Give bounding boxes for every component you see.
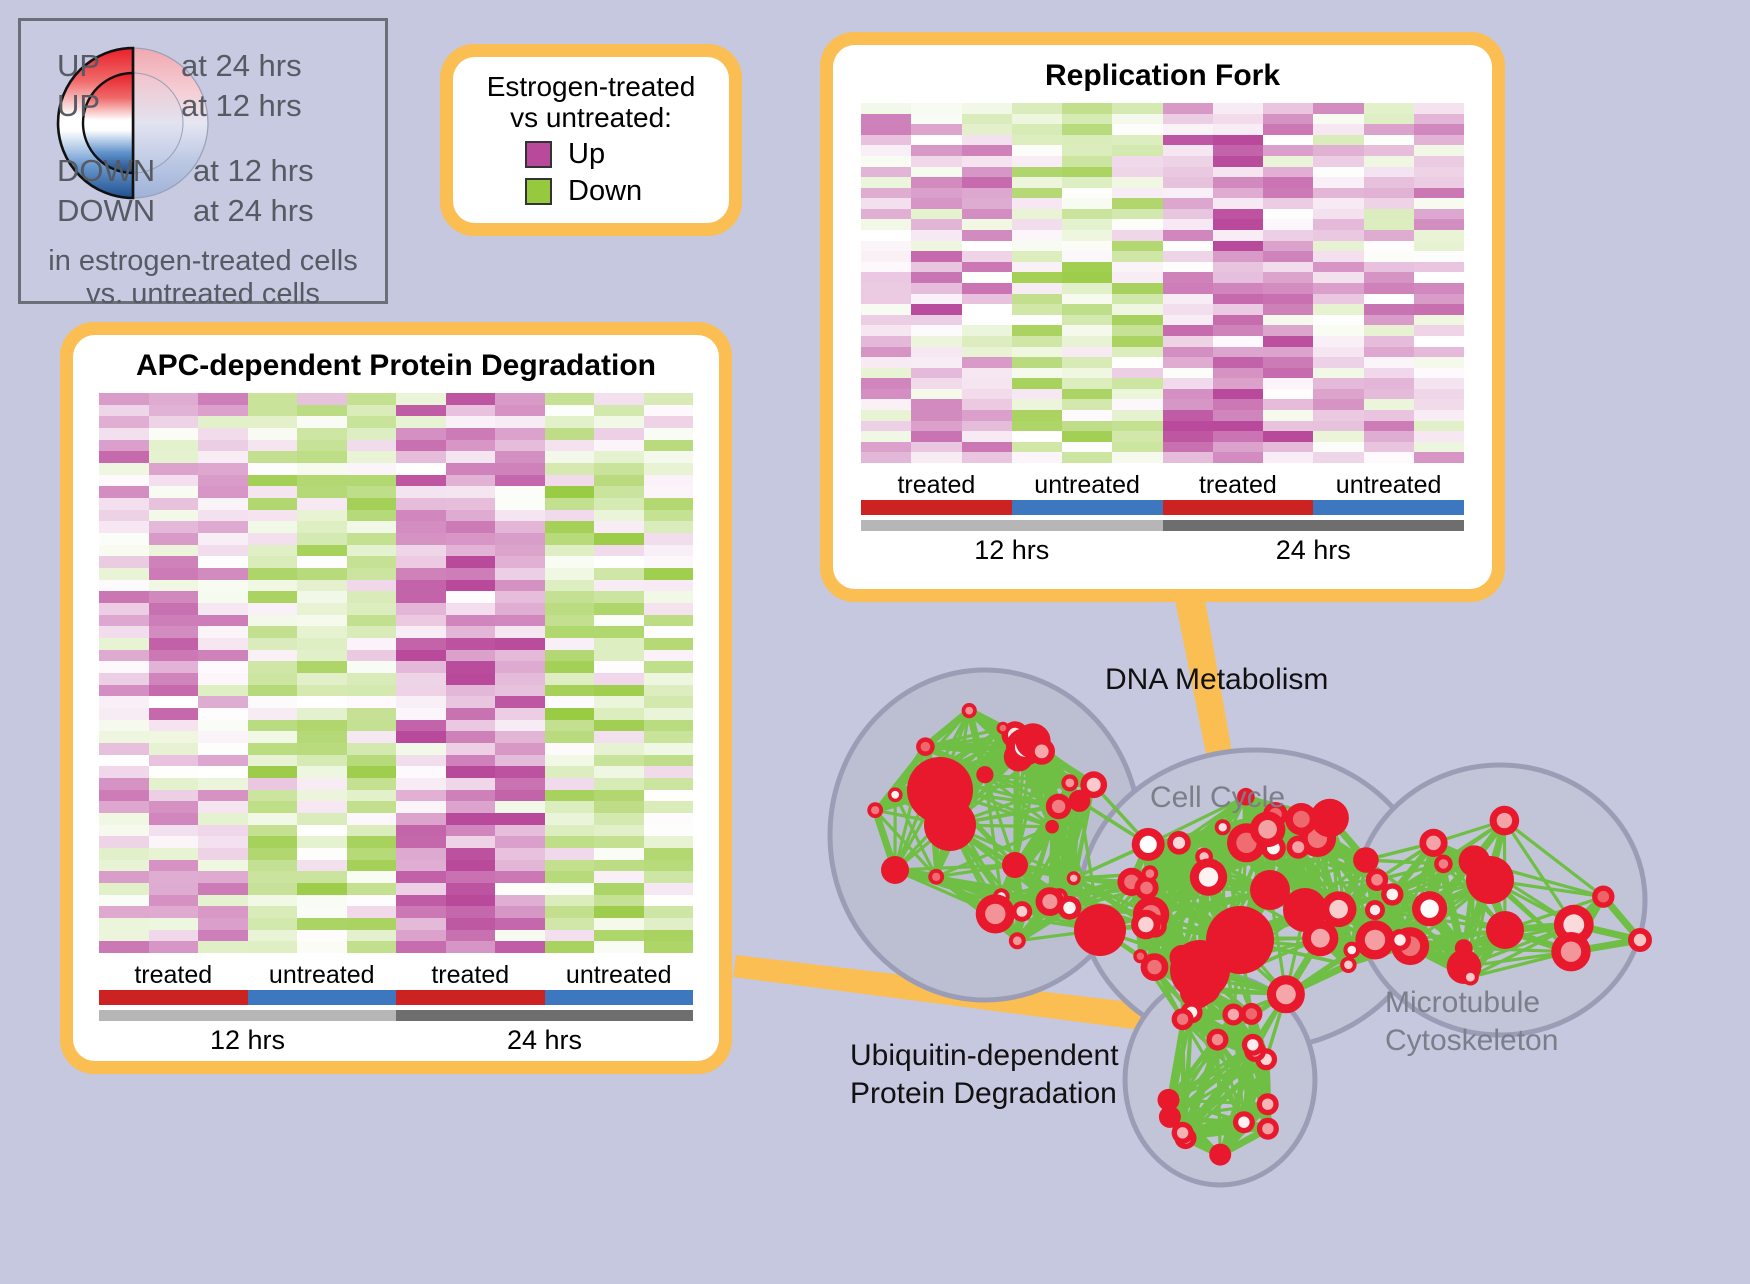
rf-sample-label-3: untreated <box>1313 471 1464 500</box>
network-label-dna-metabolism: DNA Metabolism <box>1105 662 1328 697</box>
apc-sample-labels: treated untreated treated untreated <box>99 961 693 990</box>
apc-sample-label-0: treated <box>99 961 248 990</box>
rf-sample-label-2: treated <box>1163 471 1314 500</box>
rf-sample-labels: treated untreated treated untreated <box>861 471 1464 500</box>
key-caption-line1: in estrogen-treated cells <box>21 243 385 279</box>
network-label-ubiquitin-line2: Protein Degradation <box>850 1076 1117 1111</box>
legend-swatch-up-icon <box>525 141 552 168</box>
rf-sample-color-bar <box>861 500 1464 515</box>
key-up-12-label: UP <box>57 88 100 124</box>
apc-sample-color-bar <box>99 990 693 1005</box>
pathway-network-diagram: DNA Metabolism Cell Cycle Microtubule Cy… <box>800 610 1750 1279</box>
legend-label-down: Down <box>568 175 642 208</box>
updown-legend-panel: Estrogen-treated vs untreated: Up Down <box>440 44 742 236</box>
key-down-24-time: at 24 hrs <box>193 193 314 229</box>
apc-time-color-bar <box>99 1010 693 1021</box>
legend-item-up: Up <box>469 138 713 171</box>
apc-time-label-12: 12 hrs <box>99 1025 396 1056</box>
key-up-12-time: at 12 hrs <box>181 88 302 124</box>
apc-sample-label-3: untreated <box>545 961 694 990</box>
legend-label-up: Up <box>568 138 605 171</box>
rf-time-labels: 12 hrs 24 hrs <box>861 535 1464 566</box>
replication-fork-panel: Replication Fork treated untreated treat… <box>820 32 1505 602</box>
replication-fork-title: Replication Fork <box>861 59 1464 93</box>
apc-sample-label-1: untreated <box>248 961 397 990</box>
legend-swatch-down-icon <box>525 178 552 205</box>
legend-item-down: Down <box>469 175 713 208</box>
network-label-ubiquitin-line1: Ubiquitin-dependent <box>850 1038 1119 1073</box>
key-up-24-time: at 24 hrs <box>181 48 302 84</box>
apc-sample-label-2: treated <box>396 961 545 990</box>
rf-time-color-bar <box>861 520 1464 531</box>
apc-time-labels: 12 hrs 24 hrs <box>99 1025 693 1056</box>
rf-time-label-12: 12 hrs <box>861 535 1163 566</box>
apc-panel-title: APC-dependent Protein Degradation <box>99 349 693 383</box>
key-down-12-time: at 12 hrs <box>193 153 314 189</box>
rf-sample-label-1: untreated <box>1012 471 1163 500</box>
network-label-cell-cycle: Cell Cycle <box>1150 780 1285 815</box>
rf-sample-label-0: treated <box>861 471 1012 500</box>
legend-heading-line2: vs untreated: <box>469 102 713 133</box>
key-up-24-label: UP <box>57 48 100 84</box>
key-caption-line2: vs. untreated cells <box>21 276 385 312</box>
apc-heatmap <box>99 393 693 953</box>
rf-time-label-24: 24 hrs <box>1163 535 1465 566</box>
key-down-12-label: DOWN <box>57 153 155 189</box>
replication-fork-heatmap <box>861 103 1464 463</box>
network-label-microtubule-line1: Microtubule <box>1385 985 1540 1020</box>
color-key-box: UP at 24 hrs UP at 12 hrs DOWN at 12 hrs… <box>18 18 388 304</box>
apc-protein-degradation-panel: APC-dependent Protein Degradation treate… <box>60 322 732 1074</box>
network-label-microtubule-line2: Cytoskeleton <box>1385 1023 1558 1058</box>
legend-heading-line1: Estrogen-treated <box>469 71 713 102</box>
apc-time-label-24: 24 hrs <box>396 1025 693 1056</box>
key-down-24-label: DOWN <box>57 193 155 229</box>
